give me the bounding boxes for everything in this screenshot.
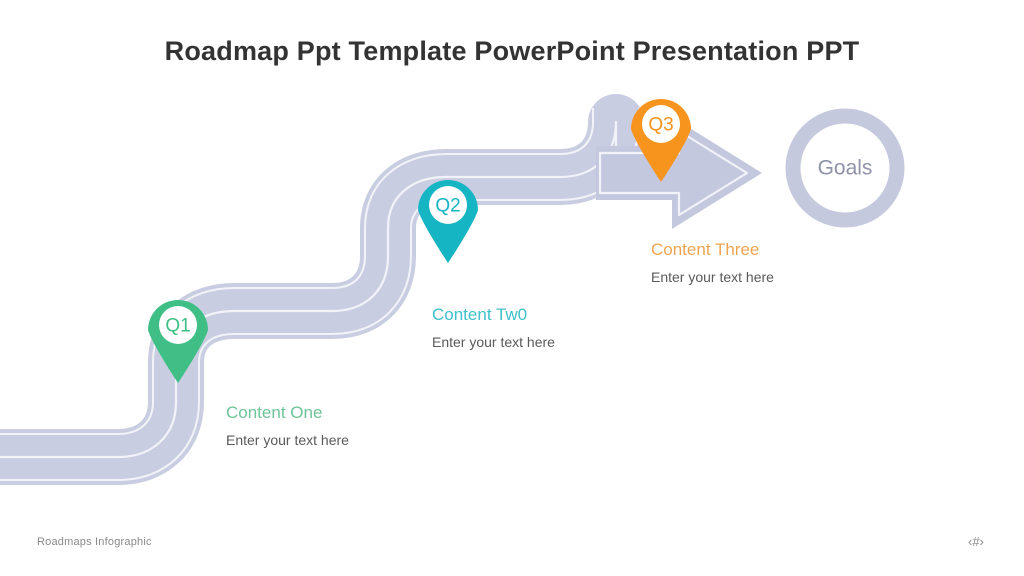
step-two-subtext: Enter your text here: [432, 334, 555, 350]
pin-marker-q2[interactable]: Q2: [418, 180, 478, 263]
step-text-block-two: Content Tw0 Enter your text here: [432, 305, 555, 350]
step-one-heading: Content One: [226, 403, 349, 423]
slide-number-placeholder: ‹#›: [968, 534, 984, 549]
goals-label: Goals: [818, 157, 873, 180]
pin-q2-label: Q2: [435, 196, 460, 217]
pin-q3-label: Q3: [648, 115, 673, 136]
step-one-subtext: Enter your text here: [226, 432, 349, 448]
pin-q1-label: Q1: [165, 316, 190, 337]
step-text-block-three: Content Three Enter your text here: [651, 240, 774, 285]
slide-canvas: Roadmap Ppt Template PowerPoint Presenta…: [0, 0, 1024, 576]
road-band-final: [0, 122, 700, 457]
footer-note: Roadmaps Infographic: [37, 536, 152, 548]
step-three-subtext: Enter your text here: [651, 269, 774, 285]
roadmap-diagram: Goals Q1 Q2 Q3: [0, 0, 1024, 576]
step-text-block-one: Content One Enter your text here: [226, 403, 349, 448]
step-two-heading: Content Tw0: [432, 305, 555, 325]
step-three-heading: Content Three: [651, 240, 774, 260]
goals-ring-group: Goals: [793, 116, 897, 220]
